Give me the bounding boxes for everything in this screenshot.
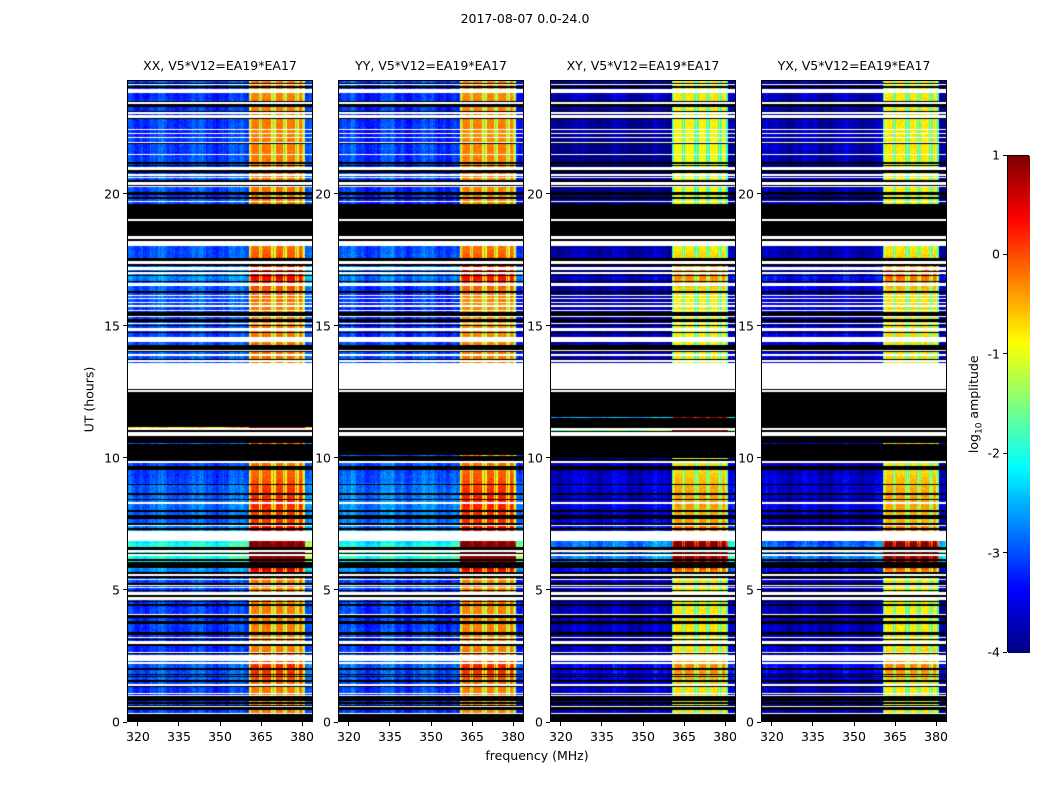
x-tick-mark	[389, 722, 390, 726]
colorbar-tick-label: -3	[959, 545, 1000, 560]
colorbar-gradient	[1008, 156, 1030, 653]
panel-frame	[761, 80, 947, 722]
x-tick-mark	[178, 722, 179, 726]
y-tick-mark	[546, 722, 550, 723]
y-tick-label: 5	[296, 582, 331, 597]
y-tick-mark	[123, 589, 127, 590]
y-tick-mark	[757, 193, 761, 194]
x-tick-label: 365	[460, 729, 484, 744]
y-tick-mark	[546, 193, 550, 194]
x-tick-label: 335	[590, 729, 614, 744]
y-tick-label: 0	[719, 715, 754, 730]
y-tick-label: 20	[508, 186, 543, 201]
x-tick-mark	[854, 722, 855, 726]
y-tick-label: 20	[296, 186, 331, 201]
x-tick-mark	[348, 722, 349, 726]
x-tick-label: 380	[924, 729, 948, 744]
panel-frame	[338, 80, 524, 722]
colorbar-label-suffix: amplitude	[966, 355, 981, 422]
colorbar-label-subscript: 10	[974, 422, 984, 433]
x-tick-label: 350	[208, 729, 232, 744]
x-axis-label: frequency (MHz)	[127, 748, 947, 763]
y-tick-label: 5	[508, 582, 543, 597]
x-tick-mark	[771, 722, 772, 726]
y-tick-label: 0	[296, 715, 331, 730]
x-tick-label: 320	[337, 729, 361, 744]
y-tick-label: 5	[719, 582, 754, 597]
x-tick-label: 350	[419, 729, 443, 744]
y-tick-mark	[123, 193, 127, 194]
panel-title-xx: XX, V5*V12=EA19*EA17	[127, 58, 313, 73]
y-tick-mark	[757, 457, 761, 458]
colorbar	[1007, 155, 1029, 652]
y-tick-mark	[757, 325, 761, 326]
x-tick-label: 380	[501, 729, 525, 744]
spectrogram-panel-xy: XY, V5*V12=EA19*EA17	[550, 80, 736, 722]
y-tick-mark	[334, 325, 338, 326]
x-tick-label: 350	[631, 729, 655, 744]
colorbar-tick-mark	[1003, 453, 1007, 454]
y-tick-label: 15	[296, 318, 331, 333]
x-tick-label: 320	[126, 729, 150, 744]
colorbar-tick-label: -4	[959, 645, 1000, 660]
colorbar-label-prefix: log	[966, 434, 981, 453]
y-tick-mark	[334, 457, 338, 458]
x-tick-mark	[812, 722, 813, 726]
x-tick-label: 365	[883, 729, 907, 744]
y-tick-label: 5	[85, 582, 120, 597]
x-tick-label: 335	[167, 729, 191, 744]
y-tick-label: 15	[508, 318, 543, 333]
figure-suptitle: 2017-08-07 0.0-24.0	[0, 11, 1050, 26]
y-tick-label: 20	[719, 186, 754, 201]
panel-frame	[550, 80, 736, 722]
spectrogram-panel-yy: YY, V5*V12=EA19*EA17	[338, 80, 524, 722]
x-tick-label: 320	[549, 729, 573, 744]
x-tick-mark	[431, 722, 432, 726]
colorbar-label: log10 amplitude	[966, 314, 985, 494]
x-tick-mark	[137, 722, 138, 726]
colorbar-tick-label: 1	[959, 148, 1000, 163]
y-tick-mark	[546, 325, 550, 326]
y-tick-label: 10	[296, 450, 331, 465]
y-tick-label: 0	[508, 715, 543, 730]
y-tick-mark	[334, 722, 338, 723]
x-tick-label: 380	[290, 729, 314, 744]
colorbar-tick-label: 0	[959, 247, 1000, 262]
y-tick-mark	[757, 722, 761, 723]
colorbar-tick-mark	[1003, 652, 1007, 653]
x-tick-label: 335	[801, 729, 825, 744]
x-tick-label: 350	[842, 729, 866, 744]
x-tick-mark	[472, 722, 473, 726]
x-tick-mark	[220, 722, 221, 726]
spectrogram-panel-xx: XX, V5*V12=EA19*EA17	[127, 80, 313, 722]
y-tick-label: 10	[508, 450, 543, 465]
x-tick-label: 320	[760, 729, 784, 744]
y-axis-label: UT (hours)	[82, 310, 97, 490]
x-tick-label: 335	[378, 729, 402, 744]
x-tick-mark	[601, 722, 602, 726]
panel-title-yy: YY, V5*V12=EA19*EA17	[338, 58, 524, 73]
panel-title-yx: YX, V5*V12=EA19*EA17	[761, 58, 947, 73]
y-tick-mark	[334, 589, 338, 590]
y-tick-label: 20	[85, 186, 120, 201]
x-tick-mark	[560, 722, 561, 726]
y-tick-mark	[123, 722, 127, 723]
y-tick-mark	[546, 457, 550, 458]
panel-title-xy: XY, V5*V12=EA19*EA17	[550, 58, 736, 73]
x-tick-label: 365	[249, 729, 273, 744]
x-tick-mark	[261, 722, 262, 726]
x-tick-mark	[936, 722, 937, 726]
y-tick-mark	[546, 589, 550, 590]
colorbar-tick-mark	[1003, 254, 1007, 255]
y-tick-mark	[757, 589, 761, 590]
y-tick-label: 0	[85, 715, 120, 730]
spectrogram-panel-yx: YX, V5*V12=EA19*EA17	[761, 80, 947, 722]
x-tick-mark	[643, 722, 644, 726]
x-tick-label: 380	[713, 729, 737, 744]
colorbar-tick-mark	[1003, 353, 1007, 354]
y-tick-label: 15	[719, 318, 754, 333]
figure-canvas: 2017-08-07 0.0-24.0 XX, V5*V12=EA19*EA17…	[0, 0, 1050, 800]
y-tick-mark	[334, 193, 338, 194]
x-tick-label: 365	[672, 729, 696, 744]
y-tick-mark	[123, 457, 127, 458]
x-tick-mark	[684, 722, 685, 726]
colorbar-tick-mark	[1003, 552, 1007, 553]
panel-frame	[127, 80, 313, 722]
x-tick-mark	[895, 722, 896, 726]
y-tick-label: 10	[719, 450, 754, 465]
y-tick-mark	[123, 325, 127, 326]
colorbar-tick-mark	[1003, 155, 1007, 156]
